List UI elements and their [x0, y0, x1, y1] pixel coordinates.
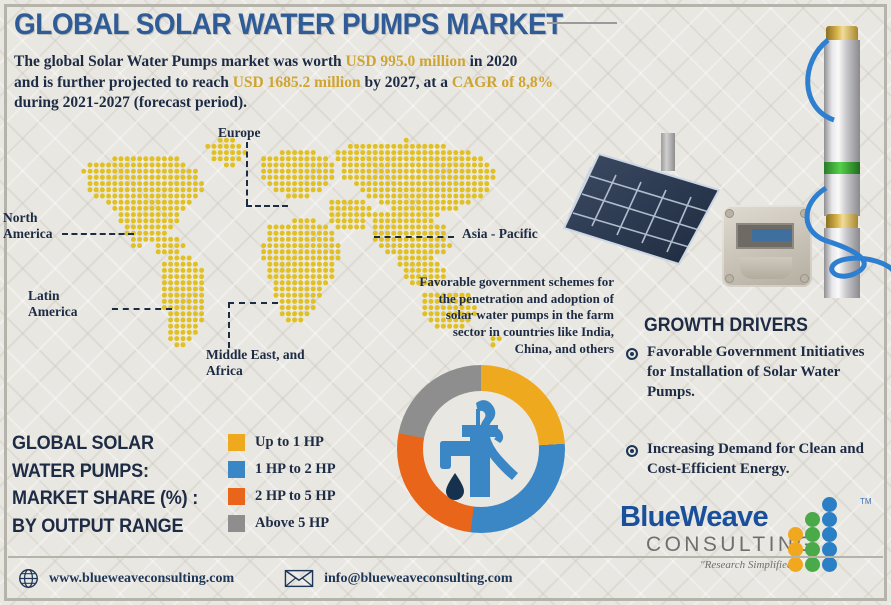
- logo-dot: [788, 527, 803, 542]
- footer-website[interactable]: www.blueweaveconsulting.com: [18, 568, 234, 589]
- controller-vent: [740, 257, 792, 279]
- logo-dot: [788, 542, 803, 557]
- map-label-europe: Europe: [218, 125, 261, 141]
- infographic-page: GLOBAL SOLAR WATER PUMPS MARKET The glob…: [0, 0, 891, 605]
- footer: www.blueweaveconsulting.com info@bluewea…: [18, 568, 563, 589]
- legend-label-above-5hp: Above 5 HP: [255, 515, 329, 532]
- summary-line1-b: in 2020: [466, 53, 518, 70]
- market-share-donut-chart: [397, 365, 565, 533]
- growth-driver-item-1: Favorable Government Initiatives for Ins…: [626, 343, 866, 402]
- map-label-north-america: North America: [3, 210, 52, 241]
- leader-north-america: [62, 233, 134, 235]
- footer-email-text: info@blueweaveconsulting.com: [324, 571, 512, 587]
- legend-label-2-to-5hp: 2 HP to 5 HP: [255, 488, 336, 505]
- logo-weave: Weave: [680, 501, 768, 533]
- legend-item-1-to-2hp[interactable]: 1 HP to 2 HP: [228, 459, 336, 480]
- map-label-middle-east-africa: Middle East, and Africa: [206, 347, 305, 378]
- bullet-icon: [626, 445, 638, 457]
- leader-asia-pacific: [374, 236, 454, 238]
- logo-tagline: "Research Simplified": [700, 559, 797, 571]
- hand-water-pump-icon: [432, 395, 530, 503]
- growth-driver-item-2: Increasing Demand for Clean and Cost-Eff…: [626, 440, 876, 480]
- map-label-latin-america: Latin America: [28, 288, 77, 319]
- growth-driver-text-1: Favorable Government Initiatives for Ins…: [647, 343, 866, 402]
- market-summary: The global Solar Water Pumps market was …: [14, 52, 614, 114]
- blueweave-logo[interactable]: BlueWeave CONSULTING "Research Simplifie…: [620, 497, 885, 573]
- leader-mea-v: [228, 302, 230, 348]
- pump-cable: [794, 28, 891, 303]
- summary-line3: during 2021-2027 (forecast period).: [14, 94, 247, 111]
- legend-item-2-to-5hp[interactable]: 2 HP to 5 HP: [228, 486, 336, 507]
- leader-europe: [246, 142, 248, 205]
- logo-dot: [822, 542, 837, 557]
- logo-dot: [788, 557, 803, 572]
- value-2020: USD 995.0 million: [346, 53, 466, 70]
- logo-tm: TM: [860, 497, 872, 506]
- leader-europe-h: [246, 205, 288, 207]
- envelope-icon: [284, 568, 314, 589]
- logo-dot: [822, 557, 837, 572]
- logo-dot: [805, 527, 820, 542]
- leader-mea-h: [228, 302, 278, 304]
- value-cagr: CAGR of 8,8%: [452, 74, 553, 91]
- growth-drivers-title: GROWTH DRIVERS: [644, 315, 808, 337]
- leader-latin-america: [112, 308, 172, 310]
- bullet-icon: [626, 348, 638, 360]
- value-2027: USD 1685.2 million: [233, 74, 361, 91]
- legend-swatch-above-5hp: [228, 515, 245, 532]
- summary-line2-b: by 2027, at a: [361, 74, 452, 91]
- logo-dot: [805, 557, 820, 572]
- footer-website-text: www.blueweaveconsulting.com: [49, 571, 234, 587]
- legend-label-1-to-2hp: 1 HP to 2 HP: [255, 461, 336, 478]
- controller-display: [736, 223, 794, 249]
- summary-line2-a: and is further projected to reach: [14, 74, 233, 91]
- solar-panel-post: [661, 133, 675, 171]
- logo-dot: [805, 512, 820, 527]
- logo-dot: [822, 527, 837, 542]
- product-imagery: [556, 18, 891, 308]
- globe-icon: [18, 568, 39, 589]
- logo-dot: [805, 542, 820, 557]
- logo-wordmark: BlueWeave: [620, 501, 768, 534]
- logo-blue: Blue: [620, 501, 680, 533]
- legend-item-above-5hp[interactable]: Above 5 HP: [228, 513, 336, 534]
- map-label-asia-pacific: Asia - Pacific: [462, 226, 538, 242]
- solar-panel-image: [561, 146, 721, 271]
- logo-dot: [822, 497, 837, 512]
- legend-swatch-2-to-5hp: [228, 488, 245, 505]
- legend-swatch-up-to-1hp: [228, 434, 245, 451]
- footer-divider: [8, 556, 883, 558]
- logo-dot: [822, 512, 837, 527]
- summary-line1-a: The global Solar Water Pumps market was …: [14, 53, 346, 70]
- legend-swatch-1-to-2hp: [228, 461, 245, 478]
- market-share-title: GLOBAL SOLAR WATER PUMPS: MARKET SHARE (…: [12, 430, 221, 540]
- footer-email[interactable]: info@blueweaveconsulting.com: [284, 568, 512, 589]
- chart-legend: Up to 1 HP 1 HP to 2 HP 2 HP to 5 HP Abo…: [228, 432, 336, 540]
- legend-label-up-to-1hp: Up to 1 HP: [255, 434, 324, 451]
- legend-item-up-to-1hp[interactable]: Up to 1 HP: [228, 432, 336, 453]
- page-title: GLOBAL SOLAR WATER PUMPS MARKET: [14, 8, 609, 42]
- growth-driver-text-2: Increasing Demand for Clean and Cost-Eff…: [647, 440, 876, 480]
